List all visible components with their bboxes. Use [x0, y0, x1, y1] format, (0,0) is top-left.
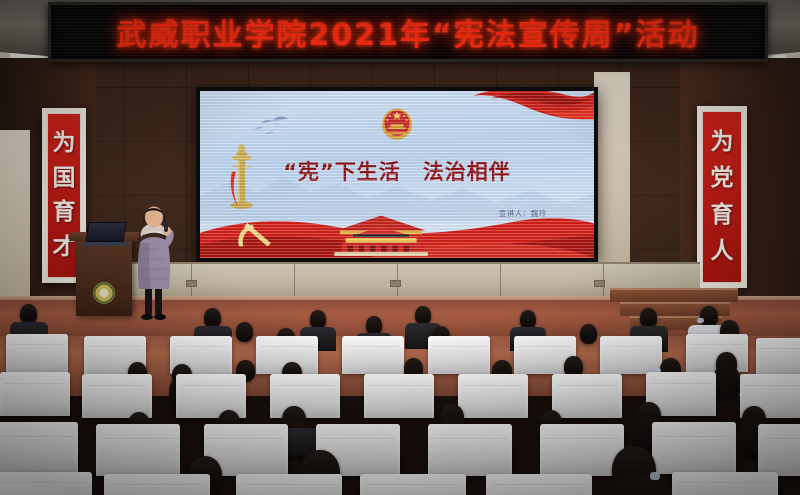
face-mask-icon	[650, 472, 660, 480]
audience-head	[236, 322, 253, 342]
seat	[552, 374, 622, 418]
auditorium-scene: 武威职业学院2021年“宪法宣传周”活动 为 国 育 才 为 党 育 人	[0, 0, 800, 495]
audience-head	[612, 446, 656, 495]
seat	[0, 422, 78, 474]
audience-head	[20, 304, 37, 324]
seat	[104, 474, 210, 495]
scroll-left-char-2: 国	[53, 167, 76, 190]
audience-head	[640, 308, 657, 328]
tiananmen-gate-icon	[322, 210, 440, 257]
led-banner: 武威职业学院2021年“宪法宣传周”活动	[48, 2, 768, 62]
seat	[428, 336, 490, 374]
wall-scroll-right: 为 党 育 人	[697, 106, 747, 288]
wall-vent-2	[390, 280, 401, 287]
slide-speaker-label: 宣讲人：魏玲	[499, 208, 547, 219]
huabiao-column-icon	[220, 141, 263, 218]
presenter-laptop	[84, 222, 128, 246]
face-mask-icon	[697, 318, 704, 323]
scroll-right-char-1: 为	[711, 131, 734, 154]
scroll-left-char-1: 为	[53, 132, 76, 155]
laptop-screen	[86, 222, 127, 242]
laptop-base	[83, 242, 129, 246]
seat	[96, 424, 180, 476]
right-cream-strip	[594, 72, 630, 272]
scroll-right-char-2: 党	[711, 167, 734, 190]
seat	[652, 422, 736, 474]
scroll-left-char-3: 育	[53, 201, 76, 224]
seat	[672, 472, 778, 495]
seat	[364, 374, 434, 418]
audience-head	[204, 308, 221, 328]
seat	[0, 372, 70, 416]
scroll-right-char-3: 育	[711, 204, 734, 227]
seat	[486, 474, 592, 495]
scroll-right-char-4: 人	[711, 240, 734, 263]
wall-vent-3	[594, 280, 605, 287]
seat	[342, 336, 404, 374]
wall-vent-1	[186, 280, 197, 287]
seat	[458, 374, 528, 418]
presentation-screen-frame: “宪”下生活 法治相伴 宣讲人：魏玲	[196, 87, 598, 262]
seat	[360, 474, 466, 495]
audience-head	[700, 306, 718, 327]
china-national-emblem-icon	[377, 104, 417, 144]
audience-seating	[0, 300, 800, 495]
presentation-slide: “宪”下生活 法治相伴 宣讲人：魏玲	[200, 91, 594, 258]
seat	[236, 474, 342, 495]
seat	[758, 424, 800, 476]
audience-head	[580, 324, 597, 344]
wall-scroll-right-inner: 为 党 育 人	[702, 111, 742, 283]
seat	[756, 338, 800, 376]
red-ribbon-graphic	[436, 91, 594, 144]
seat	[270, 374, 340, 418]
cpc-emblem-icon	[228, 218, 287, 251]
seat	[6, 334, 68, 372]
led-banner-text: 武威职业学院2021年“宪法宣传周”活动	[117, 10, 700, 54]
seat	[0, 472, 92, 495]
seat	[428, 424, 512, 476]
audience-head	[716, 352, 737, 376]
seat	[600, 336, 662, 374]
